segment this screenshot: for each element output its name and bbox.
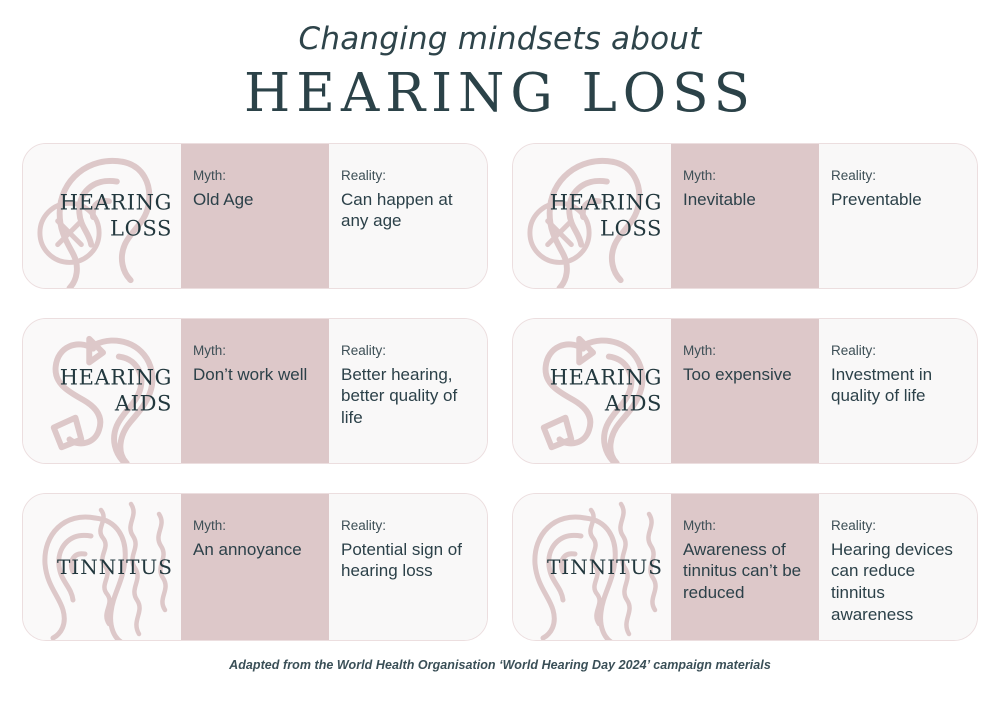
myth-kicker: Myth: — [193, 518, 317, 535]
reality-kicker: Reality: — [341, 168, 473, 185]
card-brand-cell: HEARING AIDS — [513, 319, 671, 463]
card-brand-cell: HEARING LOSS — [23, 144, 181, 288]
card-myth-cell: Myth: An annoyance — [181, 494, 329, 640]
card-brand-label: HEARING LOSS — [60, 190, 172, 241]
card-hearing-aids-dont-work[interactable]: HEARING AIDS Myth: Don’t work well Reali… — [22, 318, 488, 464]
card-brand-cell: TINNITUS — [23, 494, 181, 640]
myth-value: Inevitable — [683, 189, 807, 211]
myth-kicker: Myth: — [683, 168, 807, 185]
reality-kicker: Reality: — [831, 168, 963, 185]
reality-value: Hearing devices can reduce tinnitus awar… — [831, 539, 963, 625]
myth-value: Awareness of tinnitus can’t be reduced — [683, 539, 807, 604]
reality-kicker: Reality: — [341, 343, 473, 360]
card-hearing-aids-too-expensive[interactable]: HEARING AIDS Myth: Too expensive Reality… — [512, 318, 978, 464]
page-title: HEARING LOSS — [0, 64, 1000, 125]
myth-value: An annoyance — [193, 539, 317, 561]
source-credit: Adapted from the World Health Organisati… — [0, 658, 1000, 672]
card-brand-label: TINNITUS — [57, 555, 173, 579]
card-tinnitus-annoyance[interactable]: TINNITUS Myth: An annoyance Reality: Pot… — [22, 493, 488, 641]
reality-value: Can happen at any age — [341, 189, 473, 232]
myth-value: Too expensive — [683, 364, 807, 386]
card-myth-cell: Myth: Awareness of tinnitus can’t be red… — [671, 494, 819, 640]
card-myth-cell: Myth: Old Age — [181, 144, 329, 288]
card-reality-cell: Reality: Preventable — [819, 144, 977, 288]
card-reality-cell: Reality: Better hearing, better quality … — [329, 319, 487, 463]
reality-kicker: Reality: — [341, 518, 473, 535]
card-hearing-loss-inevitable[interactable]: HEARING LOSS Myth: Inevitable Reality: P… — [512, 143, 978, 289]
myth-kicker: Myth: — [683, 343, 807, 360]
reality-value: Investment in quality of life — [831, 364, 963, 407]
card-myth-cell: Myth: Don’t work well — [181, 319, 329, 463]
card-reality-cell: Reality: Can happen at any age — [329, 144, 487, 288]
card-brand-label: HEARING AIDS — [60, 365, 172, 416]
card-myth-cell: Myth: Too expensive — [671, 319, 819, 463]
card-myth-cell: Myth: Inevitable — [671, 144, 819, 288]
reality-value: Better hearing, better quality of life — [341, 364, 473, 429]
card-brand-label: TINNITUS — [547, 555, 663, 579]
page-subtitle: Changing mindsets about — [0, 22, 1000, 58]
page-header: Changing mindsets about HEARING LOSS — [0, 0, 1000, 125]
reality-kicker: Reality: — [831, 518, 963, 535]
card-brand-cell: TINNITUS — [513, 494, 671, 640]
myth-value: Old Age — [193, 189, 317, 211]
reality-kicker: Reality: — [831, 343, 963, 360]
card-brand-label: HEARING AIDS — [550, 365, 662, 416]
reality-value: Preventable — [831, 189, 963, 211]
card-brand-label: HEARING LOSS — [550, 190, 662, 241]
card-reality-cell: Reality: Potential sign of hearing loss — [329, 494, 487, 640]
card-tinnitus-awareness[interactable]: TINNITUS Myth: Awareness of tinnitus can… — [512, 493, 978, 641]
card-brand-cell: HEARING AIDS — [23, 319, 181, 463]
myth-kicker: Myth: — [193, 343, 317, 360]
card-brand-cell: HEARING LOSS — [513, 144, 671, 288]
myth-kicker: Myth: — [683, 518, 807, 535]
card-hearing-loss-old-age[interactable]: HEARING LOSS Myth: Old Age Reality: Can … — [22, 143, 488, 289]
myth-reality-grid: HEARING LOSS Myth: Old Age Reality: Can … — [22, 143, 978, 641]
reality-value: Potential sign of hearing loss — [341, 539, 473, 582]
card-reality-cell: Reality: Hearing devices can reduce tinn… — [819, 494, 977, 640]
card-reality-cell: Reality: Investment in quality of life — [819, 319, 977, 463]
myth-value: Don’t work well — [193, 364, 317, 386]
myth-kicker: Myth: — [193, 168, 317, 185]
